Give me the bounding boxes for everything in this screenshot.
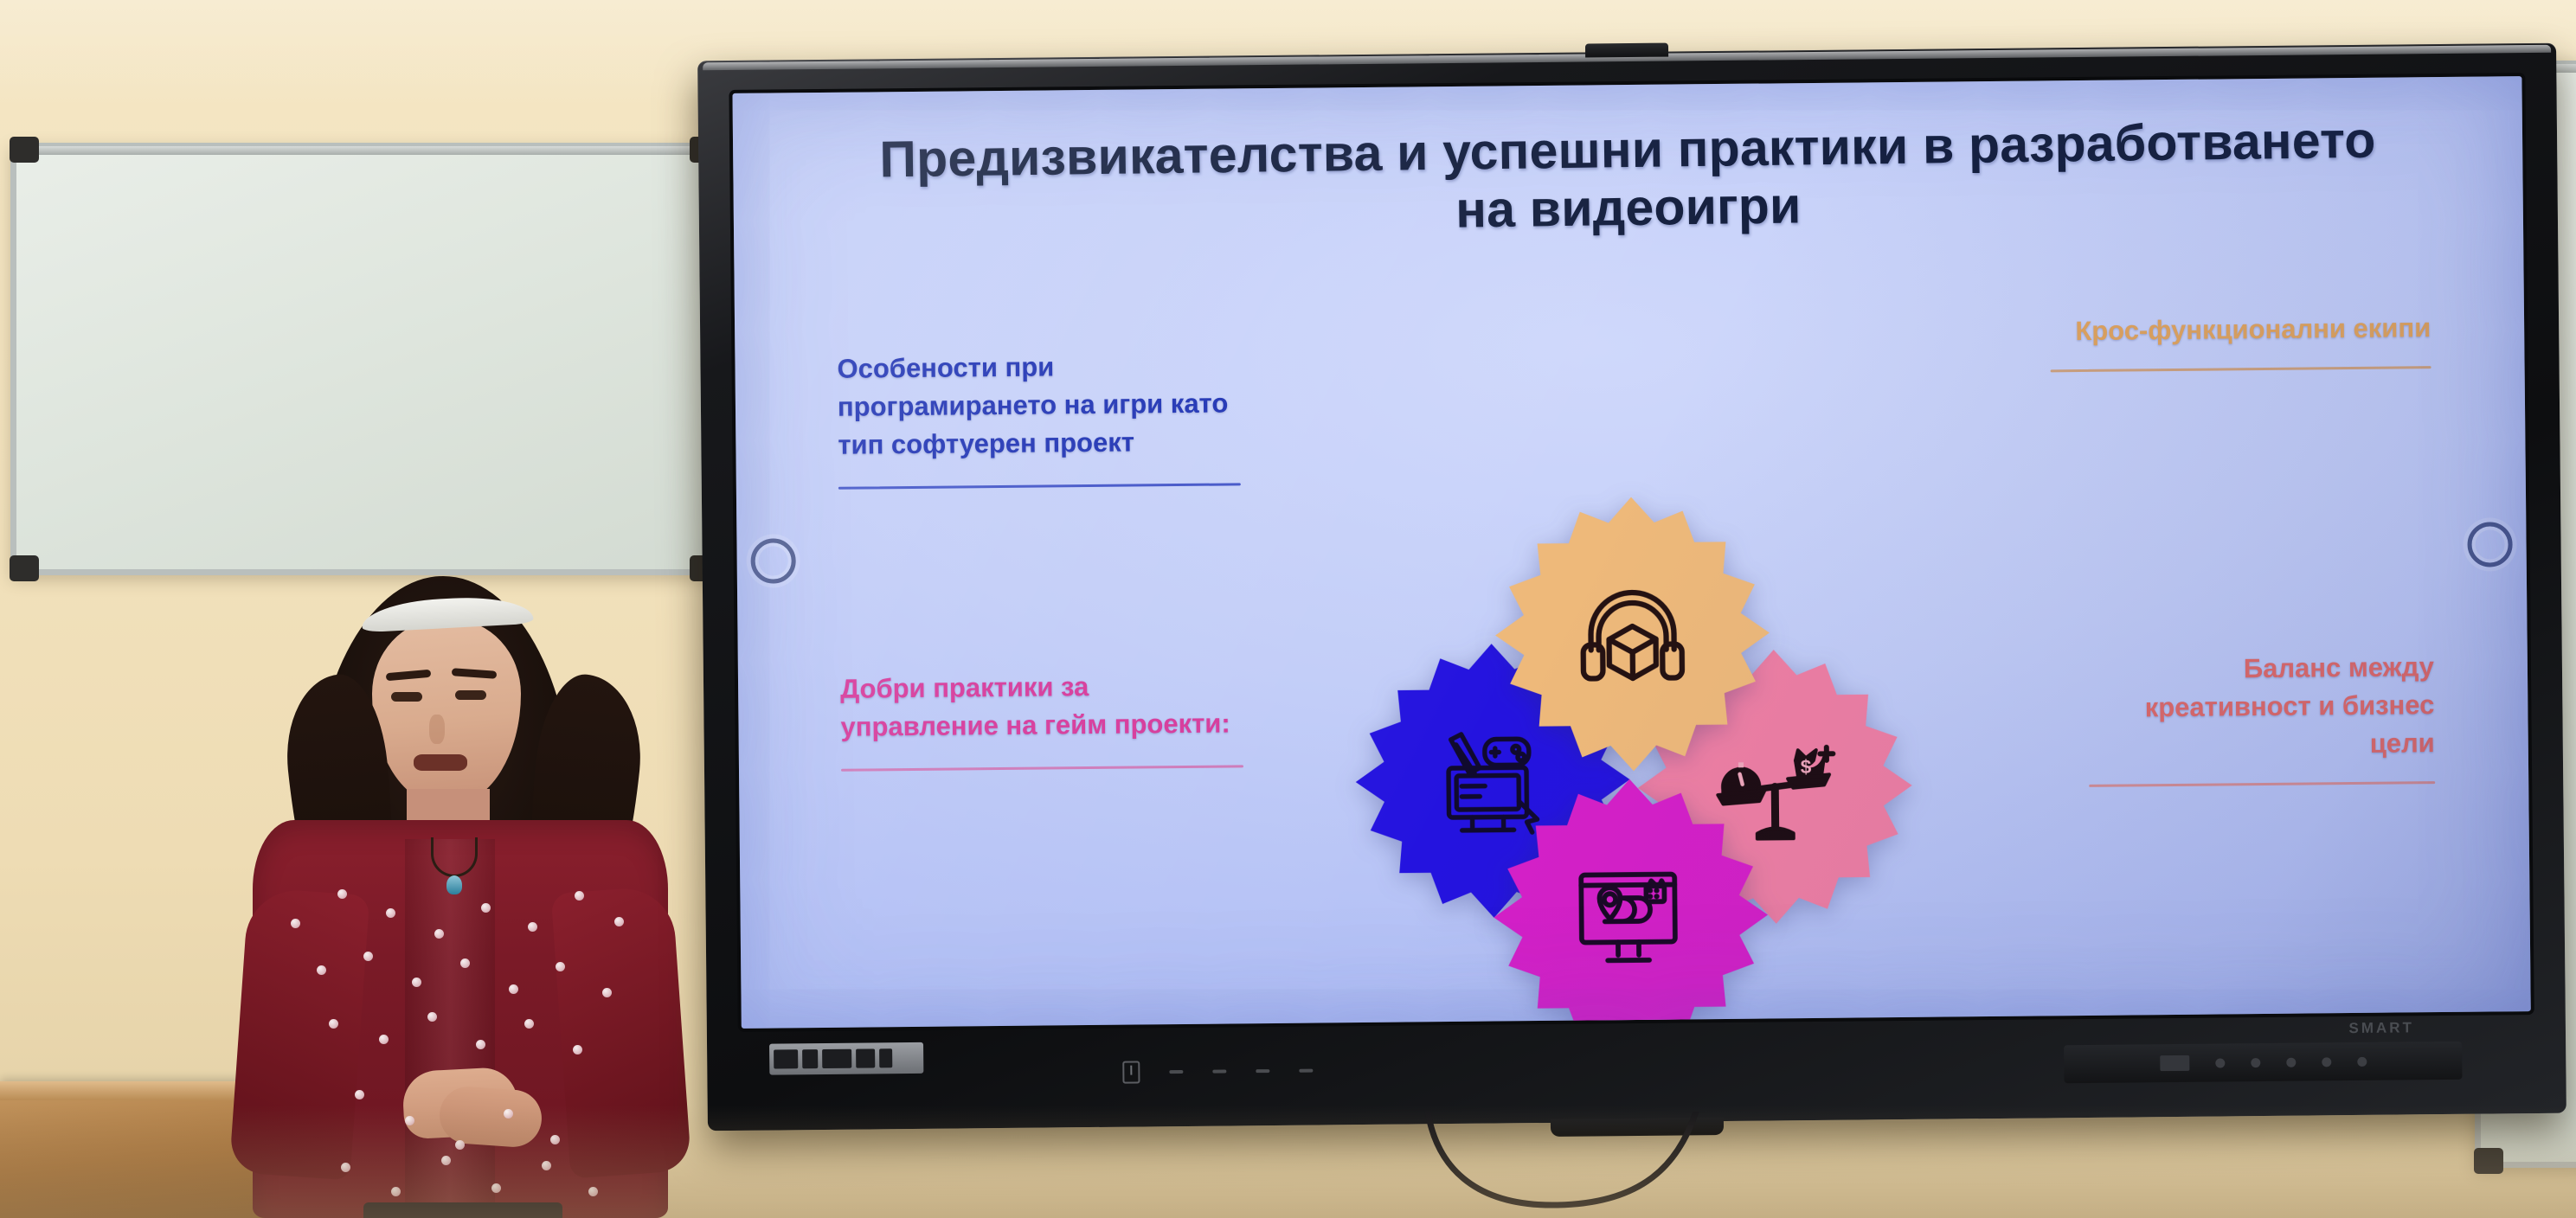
pearl-bead xyxy=(412,978,421,987)
grille-dot xyxy=(2322,1057,2331,1067)
callout-top-left-text: Особености при програмирането на игри ка… xyxy=(837,346,1240,465)
presenter-person xyxy=(234,545,684,1218)
slide-title: Предизвикателства и успешни практики в р… xyxy=(733,109,2524,249)
pearl-bead xyxy=(291,919,300,928)
pearl-bead xyxy=(329,1019,338,1029)
menu-button[interactable] xyxy=(1169,1070,1183,1074)
pearl-bead xyxy=(391,1187,401,1196)
callout-top-right: Крос-функционални екипи xyxy=(2050,309,2431,372)
pearl-bead xyxy=(524,1019,534,1029)
pearl-bead xyxy=(379,1035,389,1044)
pearl-bead xyxy=(460,958,470,968)
callout-bottom-right: Баланс между креативност и бизнес цели xyxy=(2088,648,2435,787)
whiteboard-corner xyxy=(10,137,39,163)
pearl-bead xyxy=(575,891,584,901)
roadmap-monitor-icon xyxy=(1565,850,1696,981)
classroom-scene: Предизвикателства и успешни практики в р… xyxy=(0,0,2576,1218)
nose xyxy=(429,715,445,744)
blob-bottom[interactable] xyxy=(1487,772,1775,1028)
eye-right xyxy=(455,690,486,700)
callout-bottom-right-rule xyxy=(2089,781,2435,787)
interactive-flat-panel-display[interactable]: Предизвикателства и успешни практики в р… xyxy=(697,43,2566,1131)
volume-down-button[interactable] xyxy=(1256,1069,1269,1073)
hdmi-port-icon xyxy=(802,1049,818,1068)
whiteboard-left xyxy=(10,143,718,575)
blob-top[interactable] xyxy=(1488,490,1776,778)
blob-diagram: $ xyxy=(1354,513,1913,1029)
pearl-bead xyxy=(588,1187,598,1196)
audio-port-icon xyxy=(856,1048,875,1067)
right-ring-marker xyxy=(2467,522,2512,567)
pendant xyxy=(446,875,462,894)
pearl-bead xyxy=(556,962,565,971)
pearl-bead xyxy=(491,1183,501,1193)
display-control-buttons[interactable] xyxy=(1122,1060,1313,1084)
whiteboard-corner xyxy=(10,555,39,581)
pearl-bead xyxy=(528,922,537,932)
eye-left xyxy=(391,692,422,702)
sleeve-right xyxy=(551,886,692,1179)
input-button[interactable] xyxy=(1212,1070,1226,1074)
hand-right xyxy=(438,1085,543,1149)
callout-bottom-left-rule xyxy=(841,765,1243,771)
callout-bottom-left-text: Добри практики за управление на гейм про… xyxy=(840,666,1243,746)
callout-bottom-left: Добри практики за управление на гейм про… xyxy=(840,666,1243,771)
vga-port-icon xyxy=(822,1049,851,1068)
pearl-bead xyxy=(550,1135,560,1144)
pearl-bead xyxy=(355,1090,364,1099)
grille-dot xyxy=(2215,1058,2225,1067)
svg-text:$: $ xyxy=(1801,756,1812,778)
pearl-bead xyxy=(427,1012,437,1022)
callout-top-right-rule xyxy=(2051,366,2431,372)
volume-up-button[interactable] xyxy=(1299,1069,1313,1073)
display-wall-mount xyxy=(1551,1118,1724,1137)
presentation-slide: Предизвикателства и успешни практики в р… xyxy=(732,76,2530,1029)
pearl-bead xyxy=(614,917,624,926)
pearl-bead xyxy=(341,1163,350,1172)
pearl-bead xyxy=(602,988,612,997)
headphones-cube-icon xyxy=(1567,568,1698,699)
callout-top-left-rule xyxy=(838,483,1241,489)
pearl-bead xyxy=(573,1045,582,1055)
callout-bottom-right-text: Баланс между креативност и бизнес цели xyxy=(2088,648,2435,766)
power-button-icon[interactable] xyxy=(1122,1061,1140,1083)
pearl-bead xyxy=(363,952,373,961)
grille-dot xyxy=(2357,1056,2367,1066)
pearl-bead xyxy=(509,984,518,994)
callout-top-right-text: Крос-функционални екипи xyxy=(2050,309,2431,350)
grille-dot xyxy=(2286,1057,2296,1067)
callout-top-left: Особености при програмирането на игри ка… xyxy=(837,346,1241,490)
display-brand-label: SMART xyxy=(2348,1019,2414,1037)
pearl-bead xyxy=(386,908,395,918)
pearl-bead xyxy=(504,1109,513,1119)
usb-port-icon xyxy=(774,1049,798,1068)
display-port-strip[interactable] xyxy=(769,1042,923,1075)
blouse-placket xyxy=(405,839,495,1211)
pearl-bead xyxy=(405,1116,414,1125)
pearl-bead xyxy=(455,1140,465,1150)
mouth xyxy=(414,754,467,771)
pearl-bead xyxy=(337,889,347,899)
trousers xyxy=(363,1202,562,1218)
display-screen[interactable]: Предизвикателства и успешни практики в р… xyxy=(732,76,2530,1029)
pearl-bead xyxy=(317,965,326,975)
pearl-bead xyxy=(542,1161,551,1170)
grille-dot xyxy=(2251,1058,2260,1067)
lan-port-icon xyxy=(879,1048,892,1067)
pearl-bead xyxy=(476,1040,485,1049)
pearl-bead xyxy=(441,1156,451,1165)
whiteboard-corner xyxy=(2474,1148,2503,1174)
pearl-bead xyxy=(481,903,491,913)
grille-segment xyxy=(2160,1055,2189,1071)
sleeve-left xyxy=(229,888,370,1181)
pearl-bead xyxy=(434,929,444,939)
display-camera-module xyxy=(1585,43,1668,58)
display-speaker-grille xyxy=(2064,1042,2462,1083)
left-ring-marker xyxy=(750,538,795,583)
display-bottom-bezel: SMART xyxy=(707,1011,2566,1131)
